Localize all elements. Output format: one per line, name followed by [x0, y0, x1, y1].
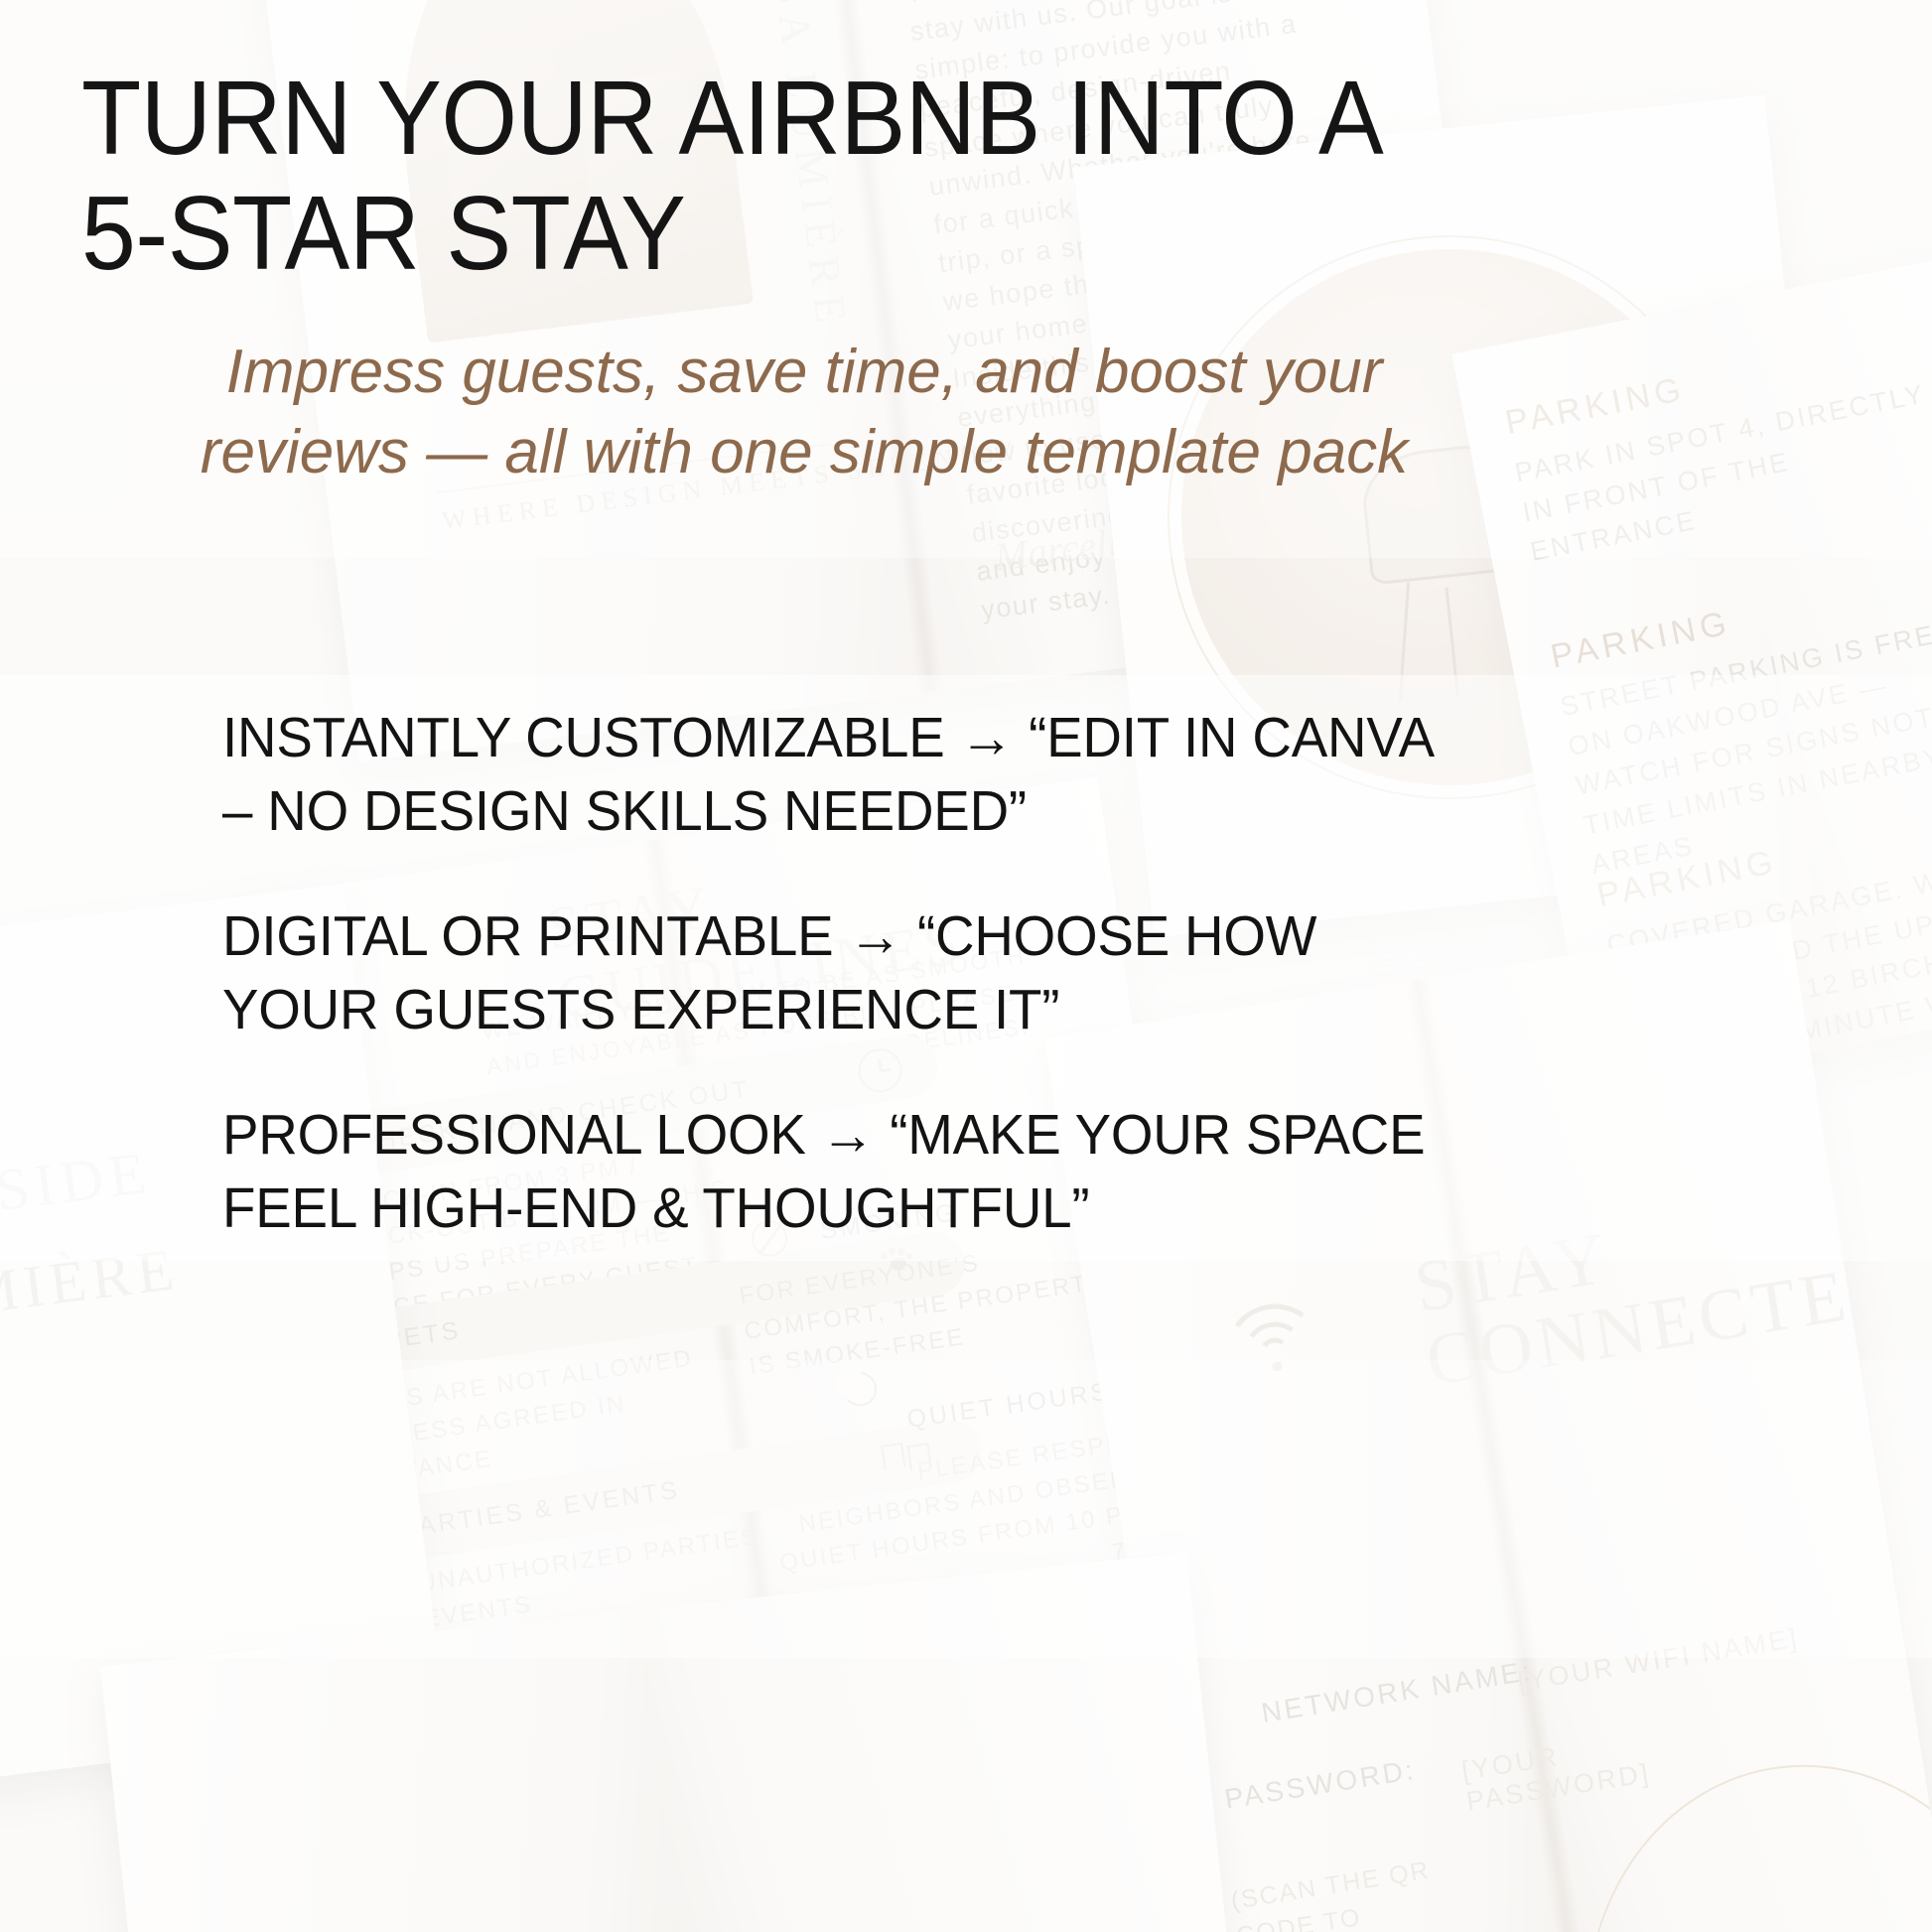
poster-content: TURN YOUR AIRBNB INTO A 5-STAR STAY Impr…	[0, 0, 1932, 1932]
benefit-item-3: PROFESSIONAL LOOK → “MAKE YOUR SPACE FEE…	[222, 1098, 1451, 1245]
poster-canvas: CASA LUMIÈRE WHERE DESIGN MEETS SERENITY…	[0, 0, 1932, 1932]
subtitle: Impress guests, save time, and boost you…	[149, 333, 1459, 492]
benefit-item-1: INSTANTLY CUSTOMIZABLE → “EDIT IN CANVA …	[222, 701, 1451, 848]
benefit-item-2: DIGITAL OR PRINTABLE → “CHOOSE HOW YOUR …	[222, 899, 1451, 1046]
page-title: TURN YOUR AIRBNB INTO A 5-STAR STAY	[81, 62, 1393, 291]
